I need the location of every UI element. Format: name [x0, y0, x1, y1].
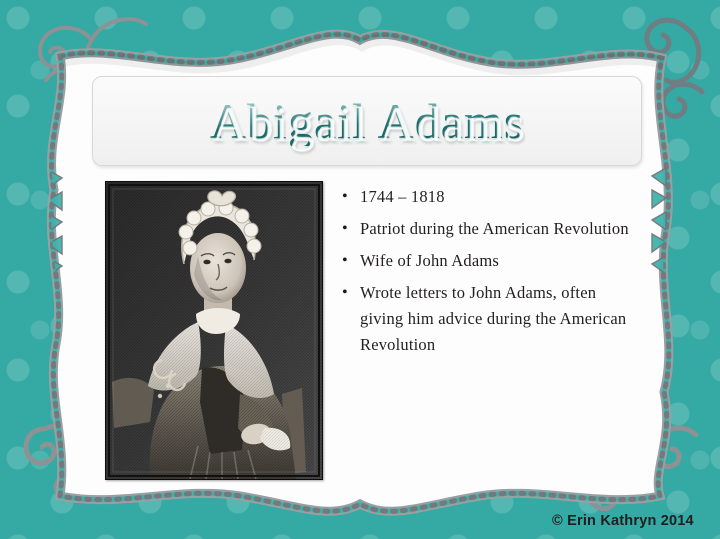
title-box: Abigail Adams: [92, 76, 642, 166]
bullet-marker-icon: •: [342, 248, 360, 274]
bullet-marker-icon: •: [342, 184, 360, 210]
copyright-notice: © Erin Kathryn 2014: [552, 513, 694, 529]
list-item-text: Wrote letters to John Adams, often givin…: [360, 280, 632, 358]
bullet-marker-icon: •: [342, 280, 360, 306]
slide-canvas: Abigail Adams: [0, 0, 720, 539]
list-item: • 1744 – 1818: [342, 184, 632, 210]
list-item-text: Patriot during the American Revolution: [360, 216, 632, 242]
list-item: • Wife of John Adams: [342, 248, 632, 274]
list-item: • Patriot during the American Revolution: [342, 216, 632, 242]
portrait-image-abigail-adams: [105, 181, 323, 480]
page-title: Abigail Adams: [210, 96, 524, 146]
bullet-list: • 1744 – 1818 • Patriot during the Ameri…: [342, 184, 632, 364]
list-item: • Wrote letters to John Adams, often giv…: [342, 280, 632, 358]
list-item-text: 1744 – 1818: [360, 184, 632, 210]
bullet-marker-icon: •: [342, 216, 360, 242]
list-item-text: Wife of John Adams: [360, 248, 632, 274]
